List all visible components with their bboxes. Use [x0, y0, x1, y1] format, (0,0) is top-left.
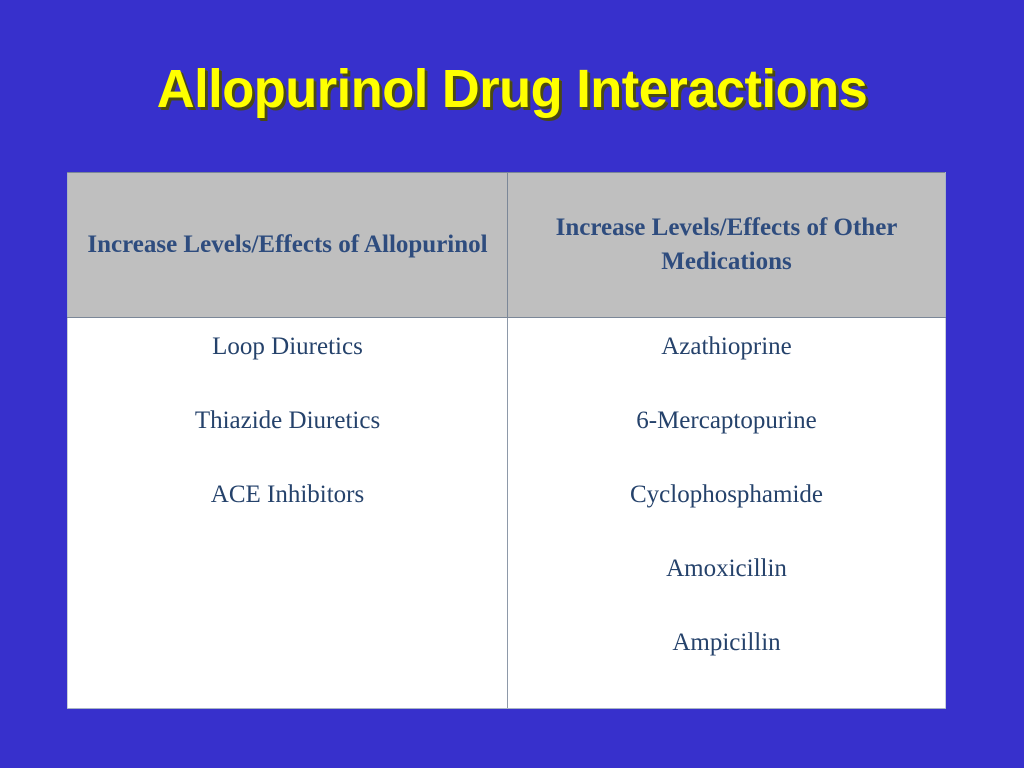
list-item: ACE Inhibitors: [68, 480, 507, 554]
cell-allopurinol-list: Loop Diuretics Thiazide Diuretics ACE In…: [68, 318, 508, 709]
list-item: 6-Mercaptopurine: [508, 406, 945, 480]
other-medications-interaction-list: Azathioprine 6-Mercaptopurine Cyclophosp…: [508, 318, 945, 702]
list-item: Cyclophosphamide: [508, 480, 945, 554]
page-title: Allopurinol Drug Interactions: [15, 58, 1008, 120]
list-item: Azathioprine: [508, 332, 945, 406]
allopurinol-interaction-list: Loop Diuretics Thiazide Diuretics ACE In…: [68, 318, 507, 554]
table-header-row: Increase Levels/Effects of Allopurinol I…: [68, 173, 946, 318]
table-body: Loop Diuretics Thiazide Diuretics ACE In…: [68, 318, 946, 709]
drug-interactions-table: Increase Levels/Effects of Allopurinol I…: [67, 172, 946, 709]
slide-canvas: Allopurinol Drug Interactions Increase L…: [0, 0, 1024, 768]
list-item: Loop Diuretics: [68, 332, 507, 406]
list-item: Thiazide Diuretics: [68, 406, 507, 480]
list-item: Ampicillin: [508, 628, 945, 702]
cell-other-medications-list: Azathioprine 6-Mercaptopurine Cyclophosp…: [508, 318, 946, 709]
table-header: Increase Levels/Effects of Allopurinol I…: [68, 173, 946, 318]
column-header-allopurinol: Increase Levels/Effects of Allopurinol: [68, 173, 508, 318]
list-item: Amoxicillin: [508, 554, 945, 628]
table-row: Loop Diuretics Thiazide Diuretics ACE In…: [68, 318, 946, 709]
column-header-other-medications: Increase Levels/Effects of Other Medicat…: [508, 173, 946, 318]
